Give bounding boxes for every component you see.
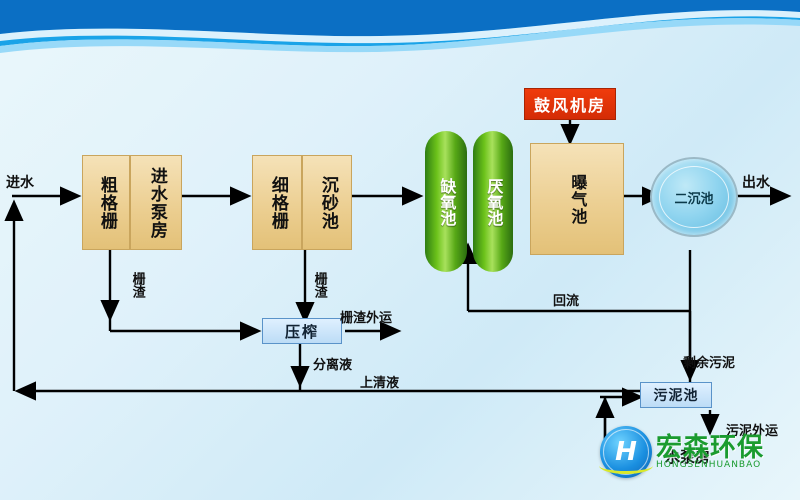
press-label: 压榨 xyxy=(285,321,319,342)
node-anaerobic-tank[interactable]: 厌氧池 xyxy=(473,131,513,272)
sludge-tank-label: 污泥池 xyxy=(654,385,699,405)
company-logo: H 宏森环保 HONGSENHUANBAO xyxy=(600,426,764,478)
node-sludge-tank[interactable]: 污泥池 xyxy=(640,382,712,408)
anaerobic-tank-label: 厌氧池 xyxy=(485,178,502,226)
label-screen-residue-2: 栅渣 xyxy=(312,272,326,298)
anoxic-tank-label: 缺氧池 xyxy=(438,178,455,226)
node-aeration-tank[interactable]: 曝气池 xyxy=(530,143,624,255)
logo-name-cn: 宏森环保 xyxy=(656,435,764,461)
fine-screen-label: 细格栅 xyxy=(268,176,286,230)
label-screen-residue-1: 栅渣 xyxy=(130,272,144,298)
outlet-label: 出水 xyxy=(742,172,770,192)
label-separated-liquid: 分离液 xyxy=(313,354,352,373)
inlet-label: 进水 xyxy=(6,172,34,192)
label-screen-residue-out: 栅渣外运 xyxy=(340,307,392,326)
flow-connectors xyxy=(0,0,800,500)
header-swoosh-decoration xyxy=(0,0,800,70)
aeration-tank-label: 曝气池 xyxy=(569,174,586,225)
logo-mark-icon: H xyxy=(600,426,652,478)
node-blower-room[interactable]: 鼓风机房 xyxy=(524,88,616,120)
coarse-screen-label: 粗格栅 xyxy=(97,176,115,230)
diagram-canvas: 进水 粗格栅 进水泵房 细格栅 沉砂池 缺氧池 厌氧池 曝气池 鼓风机房 二沉池… xyxy=(0,0,800,500)
blower-room-label: 鼓风机房 xyxy=(534,92,606,116)
inlet-pump-room-label: 进水泵房 xyxy=(147,167,165,239)
label-return-sludge: 回流 xyxy=(553,290,579,309)
label-supernatant: 上清液 xyxy=(360,372,399,391)
node-coarse-screen[interactable]: 粗格栅 xyxy=(82,155,130,250)
secondary-clarifier-label: 二沉池 xyxy=(674,188,713,207)
logo-name-en: HONGSENHUANBAO xyxy=(656,461,764,470)
label-excess-sludge: 剩余污泥 xyxy=(683,352,735,371)
node-press[interactable]: 压榨 xyxy=(262,318,342,344)
node-inlet-pump-room[interactable]: 进水泵房 xyxy=(130,155,182,250)
node-fine-screen[interactable]: 细格栅 xyxy=(252,155,302,250)
node-grit-chamber[interactable]: 沉砂池 xyxy=(302,155,352,250)
grit-chamber-label: 沉砂池 xyxy=(318,176,336,230)
node-secondary-clarifier[interactable]: 二沉池 xyxy=(650,157,738,237)
node-anoxic-tank[interactable]: 缺氧池 xyxy=(425,131,467,272)
